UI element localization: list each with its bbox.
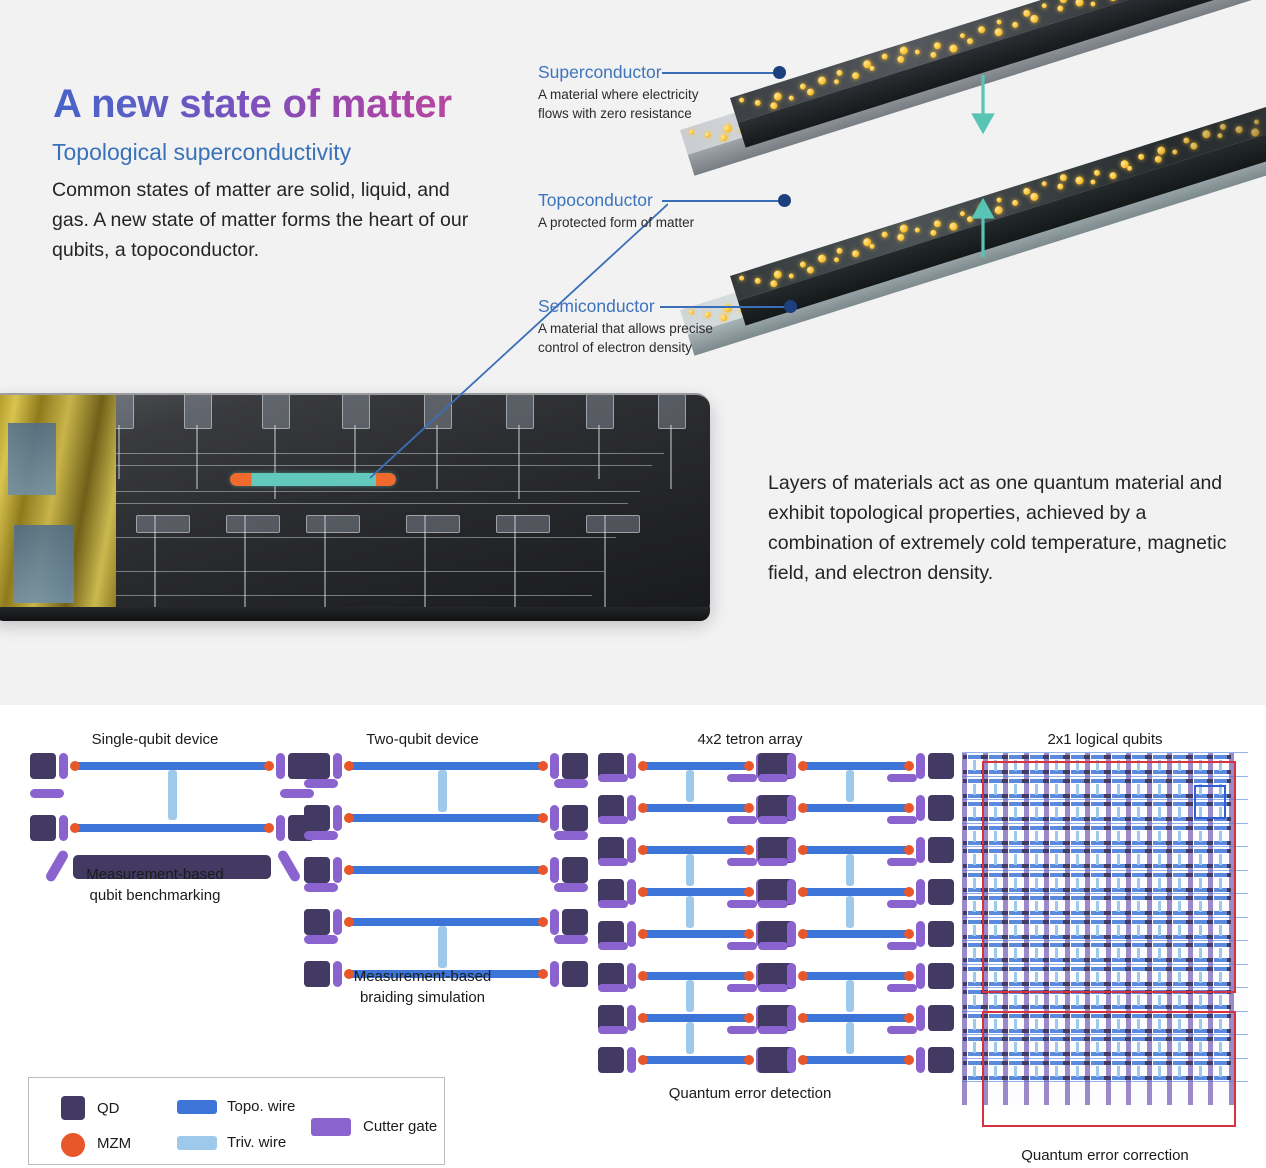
- mini-topo-wire: [1050, 755, 1063, 759]
- mini-topo-wire: [968, 1037, 981, 1041]
- electron-dot: [933, 219, 942, 228]
- electron-dot: [1190, 141, 1199, 150]
- mzm: [638, 887, 648, 897]
- cutter-gate: [550, 909, 559, 935]
- legend-label-qd: QD: [97, 1100, 120, 1117]
- chip-top-finger: [506, 393, 534, 429]
- electron-dot: [1138, 153, 1146, 161]
- mini-qd: [1066, 1005, 1070, 1009]
- cutter-gate: [554, 935, 588, 944]
- electron-dot: [754, 277, 762, 285]
- arrow-down-icon: [970, 75, 996, 137]
- electron-dot: [851, 249, 860, 258]
- cutter-gate: [727, 816, 757, 824]
- cutter-gate: [554, 779, 588, 788]
- mini-topo-wire: [989, 755, 1002, 759]
- electron-dot: [739, 275, 745, 281]
- mini-qd: [1189, 755, 1193, 759]
- qd: [304, 909, 330, 935]
- mini-topo-wire: [968, 802, 981, 806]
- mzm: [904, 929, 914, 939]
- cutter-gate: [304, 831, 338, 840]
- triv-wire: [686, 896, 694, 928]
- cutter-gate: [916, 795, 925, 821]
- mini-triv-wire: [973, 784, 976, 795]
- electron-dot: [833, 257, 839, 263]
- mini-topo-wire: [1194, 755, 1207, 759]
- cutter-gate: [598, 984, 628, 992]
- mzm: [904, 845, 914, 855]
- mini-triv-wire: [973, 1042, 976, 1053]
- triv-wire: [686, 1022, 694, 1054]
- chip-lower-pad: [496, 515, 550, 533]
- mzm: [344, 917, 354, 927]
- mini-qd: [1045, 1005, 1049, 1009]
- mini-triv-wire: [973, 1019, 976, 1030]
- electron-dot: [1093, 169, 1101, 177]
- mzm: [344, 761, 354, 771]
- electron-dot: [978, 25, 987, 34]
- electron-dot: [996, 19, 1002, 25]
- mini-qd: [963, 770, 967, 774]
- electron-dot: [896, 55, 905, 64]
- cutter-gate: [916, 1047, 925, 1073]
- topoconductor-nanowire: [230, 473, 396, 486]
- cutter-gate: [727, 1026, 757, 1034]
- cutter-gate: [887, 1026, 917, 1034]
- callout-semiconductor-desc: A material that allows precise control o…: [538, 319, 728, 357]
- mini-triv-wire: [973, 760, 976, 771]
- mini-qd: [963, 779, 967, 783]
- mzm: [798, 887, 808, 897]
- mini-triv-wire: [973, 831, 976, 842]
- mini-triv-wire: [1219, 995, 1222, 1006]
- grid-row-rule: [962, 752, 1248, 753]
- mini-topo-wire: [968, 1014, 981, 1018]
- triv-wire: [846, 770, 854, 802]
- electron-dot: [1108, 171, 1117, 180]
- electron-dot: [704, 131, 712, 139]
- topo-wire: [72, 762, 272, 770]
- electron-dot: [930, 51, 938, 59]
- mini-triv-wire: [1055, 995, 1058, 1006]
- electron-dot: [1172, 149, 1178, 155]
- mini-qd: [1004, 1005, 1008, 1009]
- mini-triv-wire: [994, 995, 997, 1006]
- electron-dot: [948, 44, 958, 54]
- cutter-gate: [276, 753, 285, 779]
- topo-wire: [346, 814, 546, 822]
- cutter-gate: [787, 879, 796, 905]
- mzm: [538, 865, 548, 875]
- leader-dot-semiconductor: [784, 300, 797, 313]
- mini-qd: [963, 943, 967, 947]
- chip-base: [0, 607, 710, 621]
- cutter-gate: [727, 942, 757, 950]
- mini-triv-wire: [973, 854, 976, 865]
- mini-triv-wire: [1178, 995, 1181, 1006]
- qd: [928, 753, 954, 779]
- mini-topo-wire: [1112, 755, 1125, 759]
- electron-dot: [1253, 119, 1259, 125]
- mzm: [744, 929, 754, 939]
- mzm: [798, 1055, 808, 1065]
- cutter-gate: [787, 1047, 796, 1073]
- electron-dot: [1090, 1, 1096, 7]
- legend-swatch-mzm: [61, 1133, 85, 1157]
- mzm: [798, 761, 808, 771]
- electron-dot: [959, 33, 965, 39]
- mini-topo-wire: [968, 826, 981, 830]
- chip-trace: [118, 425, 120, 479]
- cutter-gate: [787, 963, 796, 989]
- legend-label-mzm: MZM: [97, 1135, 131, 1152]
- cutter-gate: [276, 849, 302, 883]
- mzm: [744, 1055, 754, 1065]
- electron-dot: [993, 27, 1003, 37]
- electron-dot: [754, 99, 762, 107]
- electron-dot: [899, 224, 909, 234]
- cutter-gate: [887, 942, 917, 950]
- topo-wire: [800, 972, 912, 980]
- mini-qd: [1148, 1005, 1152, 1009]
- electron-dot: [722, 124, 732, 134]
- cutter-gate: [916, 963, 925, 989]
- cutter-gate: [727, 774, 757, 782]
- electron-dot: [1153, 155, 1162, 164]
- electron-dot: [1041, 3, 1047, 9]
- electron-dot: [1127, 165, 1133, 171]
- electron-dot: [1156, 146, 1166, 156]
- chip-top-finger: [342, 393, 370, 429]
- cutter-gate: [304, 779, 338, 788]
- cutter-gate: [598, 942, 628, 950]
- cutter-gate: [550, 857, 559, 883]
- cutter-gate: [887, 858, 917, 866]
- topo-wire: [640, 762, 752, 770]
- electron-dot: [799, 83, 807, 91]
- legend-swatch-triv-wire: [177, 1136, 217, 1150]
- legend-label-triv-wire: Triv. wire: [227, 1134, 286, 1151]
- cutter-gate: [787, 1005, 796, 1031]
- chip-trace: [436, 425, 438, 489]
- mzm: [798, 845, 808, 855]
- mzm: [798, 929, 808, 939]
- cutter-gate: [787, 795, 796, 821]
- cutter-gate: [758, 984, 788, 992]
- mini-topo-wire: [1173, 755, 1186, 759]
- qd: [928, 837, 954, 863]
- cutter-gate: [59, 815, 68, 841]
- electron-dot: [966, 37, 974, 45]
- cutter-gate: [333, 909, 342, 935]
- mini-qd: [1107, 1005, 1111, 1009]
- chip-top-finger: [262, 393, 290, 429]
- mini-triv-wire: [973, 995, 976, 1006]
- electron-dot: [1090, 179, 1096, 185]
- topo-wire: [800, 1056, 912, 1064]
- chip-trace: [94, 571, 604, 572]
- mzm: [744, 845, 754, 855]
- callout-superconductor-desc: A material where electricity flows with …: [538, 85, 723, 123]
- mini-qd: [1127, 1005, 1131, 1009]
- mini-qd: [1107, 755, 1111, 759]
- mini-triv-wire: [1199, 995, 1202, 1006]
- mini-qd: [1045, 755, 1049, 759]
- chip-trace: [70, 465, 652, 466]
- cutter-gate: [627, 837, 636, 863]
- cutter-gate: [887, 774, 917, 782]
- leader-dot-topoconductor: [778, 194, 791, 207]
- mzm: [638, 1013, 648, 1023]
- cutter-gate: [887, 900, 917, 908]
- mzm: [798, 803, 808, 813]
- electron-dot: [1041, 181, 1047, 187]
- electron-dot: [1219, 123, 1227, 131]
- mini-triv-wire: [973, 925, 976, 936]
- electron-dot: [1075, 0, 1085, 7]
- intro-paragraph: Common states of matter are solid, liqui…: [52, 175, 472, 265]
- electron-dot: [1075, 175, 1085, 185]
- cutter-gate: [598, 858, 628, 866]
- cutter-gate: [627, 1047, 636, 1073]
- chip-lower-pad: [226, 515, 280, 533]
- cutter-gate: [333, 857, 342, 883]
- electron-dot: [1056, 183, 1064, 191]
- mini-qd: [963, 826, 967, 830]
- triv-wire: [686, 770, 694, 802]
- mzm: [264, 823, 274, 833]
- mini-qd: [1086, 1005, 1090, 1009]
- triv-wire: [846, 980, 854, 1012]
- cutter-gate: [627, 1005, 636, 1031]
- hero-section: A new state of matter Topological superc…: [0, 0, 1266, 705]
- chip-trace: [100, 595, 592, 596]
- mini-triv-wire: [973, 948, 976, 959]
- mini-topo-wire: [968, 896, 981, 900]
- mini-qd: [963, 864, 967, 868]
- electron-dot: [1059, 0, 1068, 4]
- topo-wire: [640, 1056, 752, 1064]
- mini-triv-wire: [1117, 995, 1120, 1006]
- mini-qd: [963, 1029, 967, 1033]
- cutter-gate: [916, 753, 925, 779]
- triv-wire: [846, 1022, 854, 1054]
- panel-caption-single-qubit: Measurement-basedqubit benchmarking: [30, 864, 280, 906]
- electron-dot: [1011, 199, 1019, 207]
- mini-triv-wire: [973, 972, 976, 983]
- cutter-gate: [598, 1026, 628, 1034]
- cutter-gate: [787, 753, 796, 779]
- mzm: [638, 929, 648, 939]
- mini-topo-wire: [1071, 755, 1084, 759]
- mini-topo-wire: [968, 943, 981, 947]
- electron-dot: [836, 247, 844, 255]
- electron-dot: [720, 133, 729, 142]
- cutter-gate: [627, 963, 636, 989]
- mini-topo-wire: [1009, 755, 1022, 759]
- mzm: [70, 761, 80, 771]
- mini-qd: [1209, 755, 1213, 759]
- legend: QDMZMTopo. wireTriv. wireCutter gate: [28, 1077, 445, 1165]
- logical-qubits-diagram: [962, 753, 1248, 1105]
- mini-qd: [963, 888, 967, 892]
- mini-qd: [1189, 1005, 1193, 1009]
- mzm: [904, 1013, 914, 1023]
- mzm: [904, 887, 914, 897]
- mini-triv-wire: [1076, 995, 1079, 1006]
- mini-qd: [1227, 755, 1231, 759]
- panel-title-single-qubit: Single-qubit device: [30, 731, 280, 748]
- mzm: [798, 1013, 808, 1023]
- mini-qd: [1168, 1005, 1172, 1009]
- tetron-array-diagram: [598, 753, 903, 1078]
- qd: [304, 805, 330, 831]
- triv-wire: [846, 854, 854, 886]
- mzm: [904, 971, 914, 981]
- chip-trace: [196, 425, 198, 489]
- leader-line-semiconductor: [660, 306, 788, 308]
- electron-dot: [1235, 125, 1244, 134]
- electron-dot: [1030, 192, 1040, 202]
- panel-caption-two-qubit: Measurement-basedbraiding simulation: [300, 966, 545, 1008]
- chip-top-finger: [586, 393, 614, 429]
- mzm: [344, 813, 354, 823]
- section-subtitle: Topological superconductivity: [52, 139, 351, 166]
- cutter-gate: [758, 1026, 788, 1034]
- mzm: [638, 1055, 648, 1065]
- mini-topo-wire: [1214, 755, 1227, 759]
- mini-triv-wire: [1158, 995, 1161, 1006]
- electron-dot: [899, 46, 909, 56]
- topo-wire: [640, 972, 752, 980]
- electron-dot: [833, 79, 839, 85]
- mini-topo-wire: [968, 779, 981, 783]
- panel-caption-logical-qubits: Quantum error correction: [955, 1145, 1255, 1166]
- mini-qd: [1025, 755, 1029, 759]
- electron-dot: [772, 92, 782, 102]
- mzm: [638, 803, 648, 813]
- qd: [928, 1005, 954, 1031]
- mini-qd: [1127, 755, 1131, 759]
- mzm: [904, 803, 914, 813]
- electron-dot: [788, 273, 794, 279]
- electron-dot: [933, 41, 942, 50]
- mini-qd: [963, 896, 967, 900]
- cutter-gate: [787, 921, 796, 947]
- topo-wire: [800, 888, 912, 896]
- mini-qd: [963, 817, 967, 821]
- electron-dot: [806, 266, 815, 275]
- cutter-gate: [727, 984, 757, 992]
- mzm: [538, 761, 548, 771]
- topo-wire: [346, 918, 546, 926]
- qd: [928, 879, 954, 905]
- mini-qd: [1066, 755, 1070, 759]
- mini-qd: [963, 755, 967, 759]
- quantum-chip-render: [0, 385, 720, 630]
- cutter-gate: [787, 837, 796, 863]
- mini-triv-wire: [973, 901, 976, 912]
- legend-swatch-qd: [61, 1096, 85, 1120]
- electron-dot: [959, 211, 965, 217]
- triv-wire: [438, 770, 447, 812]
- electron-dot: [914, 227, 920, 233]
- chip-trace: [670, 425, 672, 489]
- cutter-gate: [304, 883, 338, 892]
- topo-wire: [640, 930, 752, 938]
- mini-qd: [1168, 755, 1172, 759]
- mini-topo-wire: [1030, 755, 1043, 759]
- chip-trace: [82, 503, 628, 504]
- mini-qd: [1227, 1005, 1231, 1009]
- electron-dot: [1030, 14, 1040, 24]
- topo-wire: [640, 804, 752, 812]
- electron-dot: [1056, 5, 1064, 13]
- mini-topo-wire: [1132, 755, 1145, 759]
- chip-top-finger: [184, 393, 212, 429]
- chip-trace: [76, 491, 640, 492]
- mini-topo-wire: [968, 873, 981, 877]
- mini-qd: [1086, 755, 1090, 759]
- qd: [562, 961, 588, 987]
- gold-slot: [8, 423, 56, 495]
- topo-wire: [346, 866, 546, 874]
- chip-trace: [64, 453, 664, 454]
- electron-dot: [1201, 129, 1211, 139]
- electron-dot: [817, 253, 827, 263]
- cutter-gate: [887, 816, 917, 824]
- topo-wire: [800, 804, 912, 812]
- gold-contact-block: [0, 395, 116, 611]
- electron-dot: [836, 69, 844, 77]
- electron-dot: [799, 261, 807, 269]
- qd: [30, 753, 56, 779]
- legend-swatch-topo-wire: [177, 1100, 217, 1114]
- electron-dot: [851, 71, 860, 80]
- callout-topoconductor-desc: A protected form of matter: [538, 213, 728, 232]
- mini-topo-wire: [1091, 755, 1104, 759]
- cutter-gate: [333, 805, 342, 831]
- mini-topo-wire: [968, 1061, 981, 1065]
- mzm: [344, 865, 354, 875]
- electron-dot: [996, 197, 1002, 203]
- panel-caption-tetron-array: Quantum error detection: [600, 1083, 900, 1104]
- cutter-gate: [887, 984, 917, 992]
- cutter-gate: [758, 942, 788, 950]
- mini-qd: [1209, 1005, 1213, 1009]
- mini-qd: [963, 982, 967, 986]
- topo-wire: [72, 824, 272, 832]
- cutter-gate: [598, 900, 628, 908]
- qd: [562, 909, 588, 935]
- electron-dot: [770, 279, 779, 288]
- topo-wire: [640, 846, 752, 854]
- mini-triv-wire: [973, 878, 976, 889]
- qd: [304, 857, 330, 883]
- cutter-gate: [598, 774, 628, 782]
- mini-topo-wire: [968, 755, 981, 759]
- mzm: [744, 1013, 754, 1023]
- cutter-gate: [554, 831, 588, 840]
- qd: [304, 753, 330, 779]
- cutter-gate: [276, 815, 285, 841]
- qd: [758, 1047, 784, 1073]
- mini-qd: [963, 920, 967, 924]
- mini-qd: [963, 935, 967, 939]
- tetron-highlight-box: [1194, 785, 1226, 819]
- electron-dot: [869, 65, 875, 71]
